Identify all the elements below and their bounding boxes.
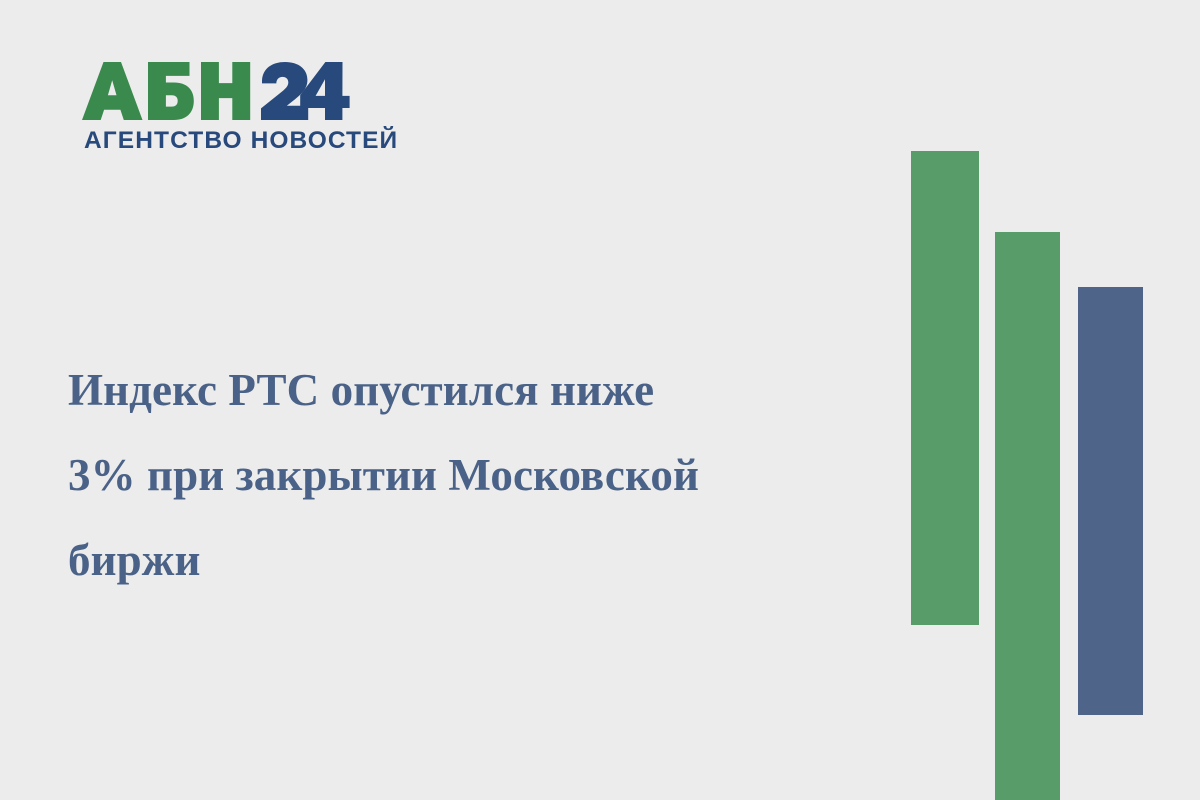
- chart-bar: [1078, 287, 1143, 715]
- site-logo[interactable]: АГЕНТСТВО НОВОСТЕЙ: [82, 62, 372, 154]
- headline-line: 3% при закрытии Московской: [68, 433, 868, 518]
- news-card: АГЕНТСТВО НОВОСТЕЙ Индекс РТС опустился …: [0, 0, 1200, 800]
- abn24-wordmark-icon: [82, 62, 354, 120]
- logo-tagline: АГЕНТСТВО НОВОСТЕЙ: [84, 129, 372, 154]
- headline-line: биржи: [68, 518, 868, 603]
- headline-line: Индекс РТС опустился ниже: [68, 348, 868, 433]
- chart-bar: [995, 232, 1060, 800]
- chart-bar: [911, 151, 979, 625]
- page-title: Индекс РТС опустился ниже 3% при закрыти…: [68, 348, 868, 603]
